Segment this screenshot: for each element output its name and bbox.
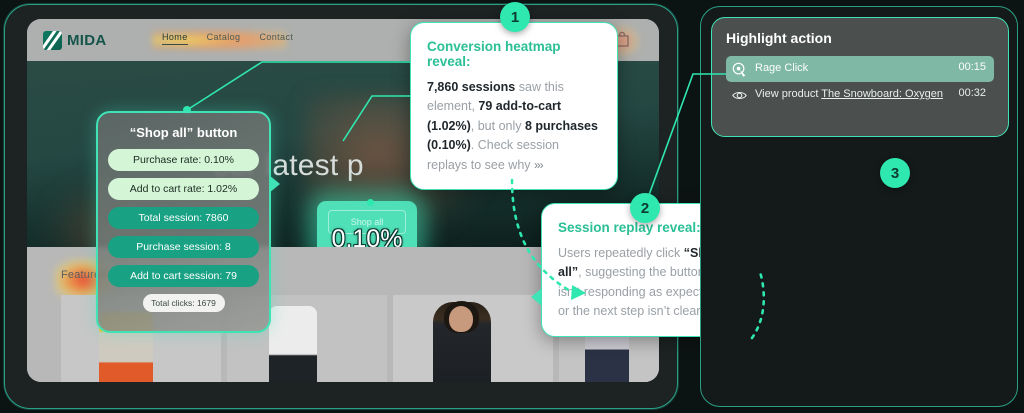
action-label-text: View product — [755, 88, 821, 100]
nav-item-contact[interactable]: Contact — [259, 30, 293, 45]
shop-all-anchor-dot — [367, 199, 374, 206]
metric-purchase-session: Purchase session: 8 — [108, 236, 259, 258]
shop-all-button-highlight[interactable]: Shop all 0.10% — [317, 201, 417, 247]
callout-badge-2: 2 — [630, 193, 660, 223]
callout-badge-3: 3 — [880, 158, 910, 188]
action-label: Rage Click — [755, 61, 950, 76]
mida-logo-icon — [43, 31, 62, 50]
highlight-action-title: Highlight action — [726, 30, 994, 46]
metric-total-clicks: Total clicks: 1679 — [143, 294, 225, 312]
metric-add-to-cart-rate: Add to cart rate: 1.02% — [108, 178, 259, 200]
action-timestamp: 00:15 — [958, 61, 986, 73]
stats-card-title: “Shop all” button — [108, 125, 259, 140]
chevron-right-icon[interactable]: »› — [534, 158, 543, 172]
metric-total-session: Total session: 7860 — [108, 207, 259, 229]
product-image — [433, 302, 491, 382]
metric-add-to-cart-session: Add to cart session: 79 — [108, 265, 259, 287]
shop-all-conversion-value: 0.10% — [317, 225, 417, 247]
eye-icon — [732, 88, 747, 103]
heatmap-stats-card: “Shop all” button Purchase rate: 0.10% A… — [96, 111, 271, 333]
nav-item-catalog[interactable]: Catalog — [207, 30, 241, 45]
brand-logo[interactable]: MIDA — [43, 31, 107, 50]
action-timestamp: 00:32 — [958, 87, 986, 99]
action-row-rage-click[interactable]: Rage Click 00:15 — [726, 56, 994, 82]
metric-purchase-rate: Purchase rate: 0.10% — [108, 149, 259, 171]
nav-item-home[interactable]: Home — [162, 30, 188, 45]
product-link[interactable]: The Snowboard: Oxygen — [821, 88, 943, 100]
callout-body: 7,860 sessions saw this element, 79 add-… — [427, 78, 601, 175]
screenshot-root: MIDA Home Catalog Contact — [0, 0, 1024, 413]
session-replay-panel: Highlight action Rage Click 00:15 View p… — [700, 6, 1018, 407]
product-card[interactable] — [393, 295, 553, 382]
rage-click-icon — [732, 62, 747, 77]
product-image — [269, 306, 317, 382]
brand-name: MIDA — [67, 32, 107, 49]
site-nav: Home Catalog Contact — [162, 30, 293, 45]
callout-card-conversion-heatmap: Conversion heatmap reveal: 7,860 session… — [410, 22, 618, 190]
highlight-action-card: Highlight action Rage Click 00:15 View p… — [711, 17, 1009, 137]
callout-title: Conversion heatmap reveal: — [427, 39, 601, 69]
action-row-view-product[interactable]: View product The Snowboard: Oxygen 00:32 — [726, 82, 994, 108]
action-label: View product The Snowboard: Oxygen — [755, 87, 950, 102]
callout-badge-1: 1 — [500, 2, 530, 32]
